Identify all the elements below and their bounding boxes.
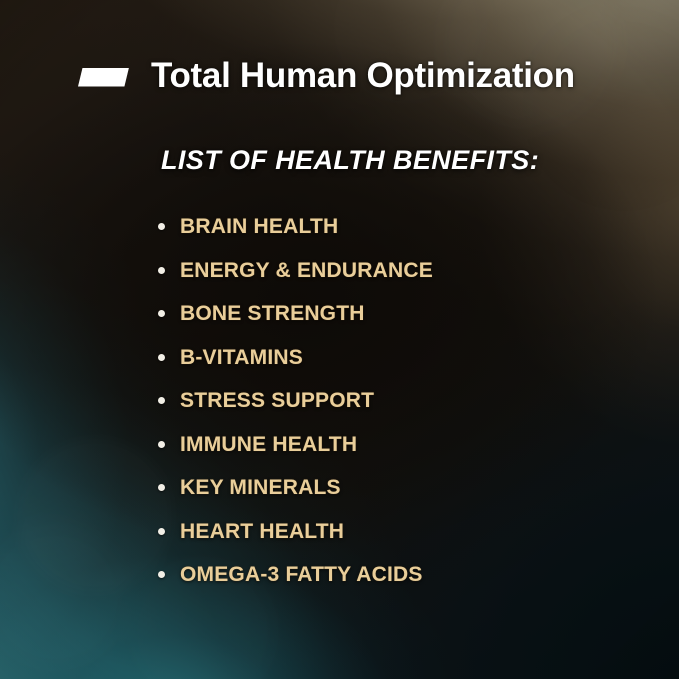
benefit-label: ENERGY & ENDURANCE — [180, 260, 433, 281]
bullet-icon — [158, 267, 165, 274]
bullet-icon — [158, 310, 165, 317]
benefit-label: HEART HEALTH — [180, 521, 344, 542]
poster-content: Total Human Optimization LIST OF HEALTH … — [0, 0, 679, 679]
list-item: ENERGY & ENDURANCE — [158, 249, 433, 293]
benefit-label: IMMUNE HEALTH — [180, 434, 357, 455]
list-item: BRAIN HEALTH — [158, 205, 433, 249]
list-item: HEART HEALTH — [158, 510, 433, 554]
bullet-icon — [158, 528, 165, 535]
poster-header: Total Human Optimization — [78, 58, 575, 93]
slanted-bar-logo-icon — [78, 68, 129, 87]
list-item: IMMUNE HEALTH — [158, 423, 433, 467]
list-item: OMEGA-3 FATTY ACIDS — [158, 553, 433, 597]
benefit-label: STRESS SUPPORT — [180, 390, 374, 411]
list-item: BONE STRENGTH — [158, 292, 433, 336]
list-item: KEY MINERALS — [158, 466, 433, 510]
list-item: STRESS SUPPORT — [158, 379, 433, 423]
benefit-label: B-VITAMINS — [180, 347, 303, 368]
bullet-icon — [158, 484, 165, 491]
bullet-icon — [158, 397, 165, 404]
benefits-list: BRAIN HEALTH ENERGY & ENDURANCE BONE STR… — [158, 205, 433, 597]
benefit-label: KEY MINERALS — [180, 477, 341, 498]
bullet-icon — [158, 441, 165, 448]
bullet-icon — [158, 354, 165, 361]
promo-poster: Total Human Optimization LIST OF HEALTH … — [0, 0, 679, 679]
benefit-label: BONE STRENGTH — [180, 303, 365, 324]
bullet-icon — [158, 223, 165, 230]
list-item: B-VITAMINS — [158, 336, 433, 380]
benefits-heading: LIST OF HEALTH BENEFITS: — [161, 147, 539, 174]
benefit-label: BRAIN HEALTH — [180, 216, 338, 237]
page-title: Total Human Optimization — [151, 58, 575, 93]
bullet-icon — [158, 571, 165, 578]
benefit-label: OMEGA-3 FATTY ACIDS — [180, 564, 423, 585]
